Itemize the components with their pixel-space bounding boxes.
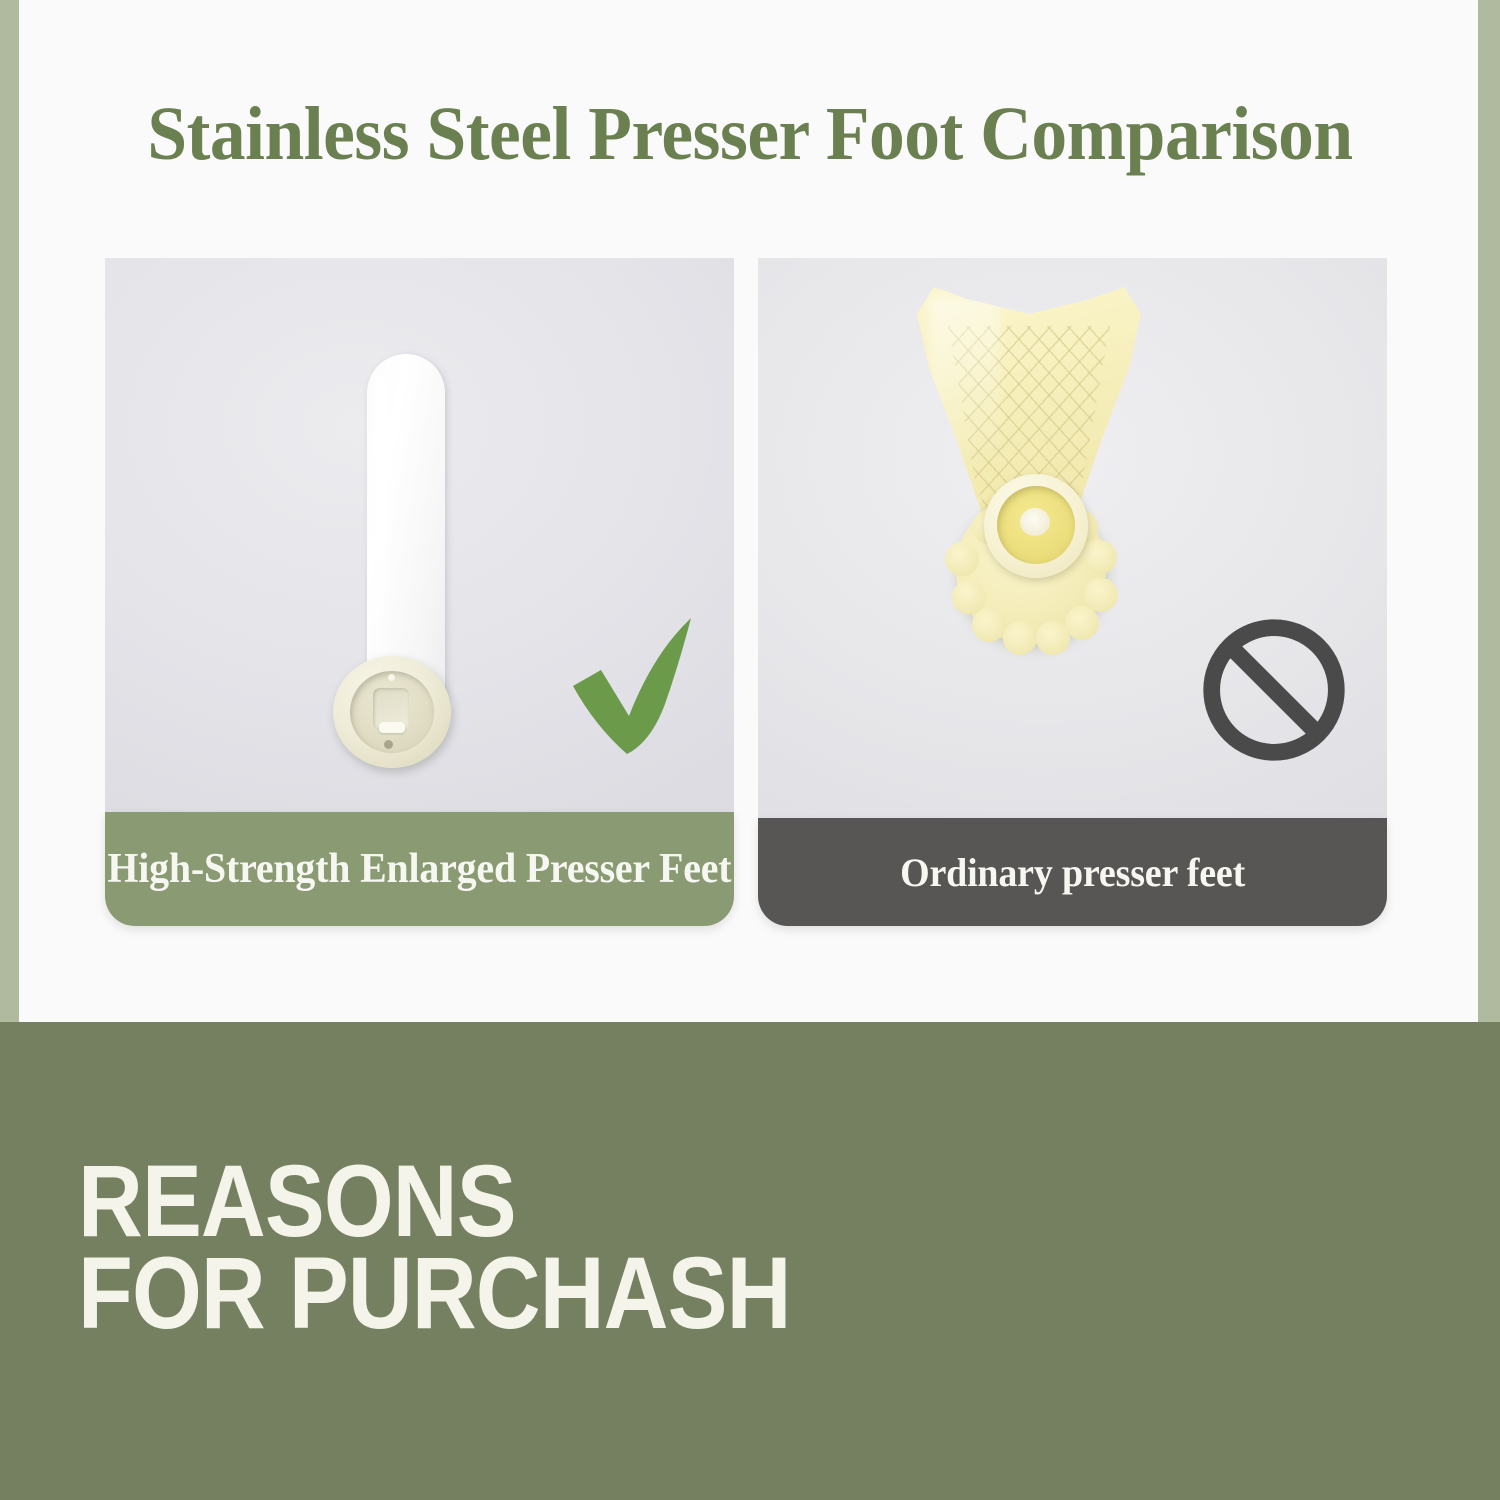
comparison-panels: High-Strength Enlarged Presser Feet	[105, 258, 1390, 926]
left-border-strip	[0, 0, 19, 1022]
check-icon	[567, 608, 707, 758]
socket-top-dot	[388, 674, 395, 681]
right-border-strip	[1478, 0, 1500, 1022]
caption-bar-bad: Ordinary presser feet	[758, 818, 1387, 926]
plastic-socket-ring	[984, 474, 1088, 578]
reasons-heading-line-2: FOR PURCHASH	[78, 1247, 791, 1339]
socket-pin-hole	[384, 740, 393, 749]
reasons-heading: REASONS FOR PURCHASH	[78, 1155, 791, 1339]
comparison-panel-bad[interactable]: Ordinary presser feet	[758, 258, 1387, 926]
product-photo-ordinary	[758, 258, 1387, 818]
stainless-blade	[367, 354, 445, 702]
caption-bar-good: High-Strength Enlarged Presser Feet	[105, 812, 734, 926]
blade-highlight	[929, 296, 1000, 461]
caption-label-good: High-Strength Enlarged Presser Feet	[108, 845, 732, 893]
product-photo-stainless	[105, 258, 734, 818]
prohibition-icon	[1198, 614, 1350, 766]
caption-label-bad: Ordinary presser feet	[900, 849, 1245, 896]
comparison-panel-good[interactable]: High-Strength Enlarged Presser Feet	[105, 258, 734, 926]
stainless-socket	[333, 656, 451, 768]
page-title: Stainless Steel Presser Foot Comparison	[45, 96, 1455, 172]
socket-notch	[379, 722, 405, 733]
plastic-presser-foot	[910, 278, 1148, 648]
socket-ring-core	[1020, 508, 1050, 536]
product-comparison-poster: Stainless Steel Presser Foot Comparison	[0, 0, 1500, 1500]
reasons-band: REASONS FOR PURCHASH	[0, 1022, 1500, 1500]
